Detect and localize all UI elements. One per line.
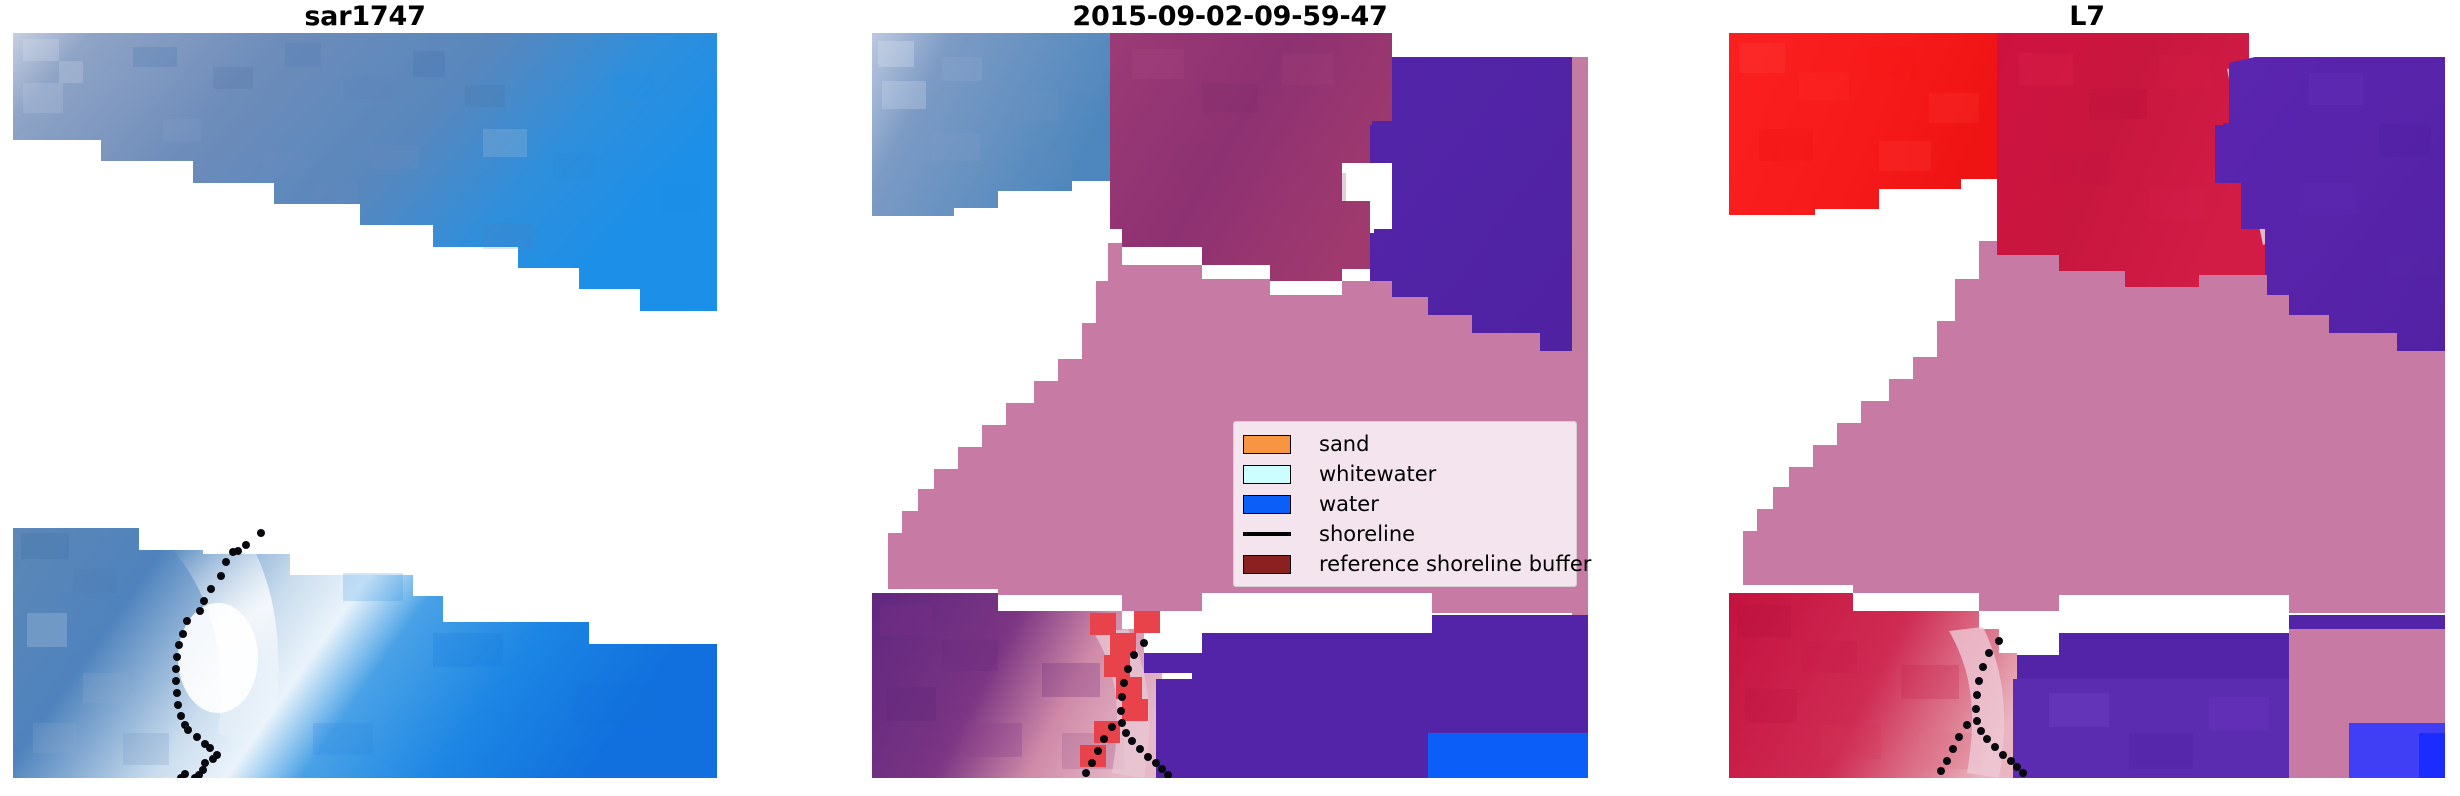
shoreline-line-icon	[1243, 532, 1291, 536]
whitewater-swatch-icon	[1243, 465, 1291, 484]
panel-title-sar1747: sar1747	[13, 2, 717, 32]
legend-item-water[interactable]: water	[1243, 489, 1567, 519]
legend: sand whitewater water shoreline referenc	[1233, 421, 1577, 587]
legend-label-whitewater: whitewater	[1319, 463, 1436, 485]
legend-label-shoreline: shoreline	[1319, 523, 1415, 545]
panel-classified: 2015-09-02-09-59-47	[872, 0, 1588, 796]
water-swatch-icon	[1243, 495, 1291, 514]
figure-canvas: sar1747	[0, 0, 2460, 796]
class-bright-water-patch	[1428, 733, 1588, 778]
sand-swatch-icon	[1243, 435, 1291, 454]
panel-title-l7: L7	[1729, 2, 2445, 32]
axes-sar1747	[13, 33, 717, 778]
panel-sar1747: sar1747	[13, 0, 717, 796]
legend-swatch-sand-wrap	[1243, 435, 1307, 454]
legend-swatch-shoreline-wrap	[1243, 532, 1307, 536]
legend-swatch-whitewater-wrap	[1243, 465, 1307, 484]
legend-swatch-buffer-wrap	[1243, 555, 1307, 574]
image-sar1747	[13, 33, 717, 778]
legend-item-sand[interactable]: sand	[1243, 429, 1567, 459]
legend-item-shoreline[interactable]: shoreline	[1243, 519, 1567, 549]
image-classified	[872, 33, 1588, 778]
l7-bright-water-corner-2	[2419, 733, 2445, 778]
image-l7	[1729, 33, 2445, 778]
panel-l7: L7	[1729, 0, 2445, 796]
axes-l7	[1729, 33, 2445, 778]
legend-swatch-water-wrap	[1243, 495, 1307, 514]
legend-label-sand: sand	[1319, 433, 1369, 455]
panel-title-classified: 2015-09-02-09-59-47	[872, 2, 1588, 32]
legend-label-reference-shoreline-buffer: reference shoreline buffer	[1319, 553, 1591, 575]
reference-shoreline-buffer-swatch-icon	[1243, 555, 1291, 574]
legend-item-reference-shoreline-buffer[interactable]: reference shoreline buffer	[1243, 549, 1567, 579]
legend-label-water: water	[1319, 493, 1379, 515]
axes-classified	[872, 33, 1588, 778]
legend-item-whitewater[interactable]: whitewater	[1243, 459, 1567, 489]
